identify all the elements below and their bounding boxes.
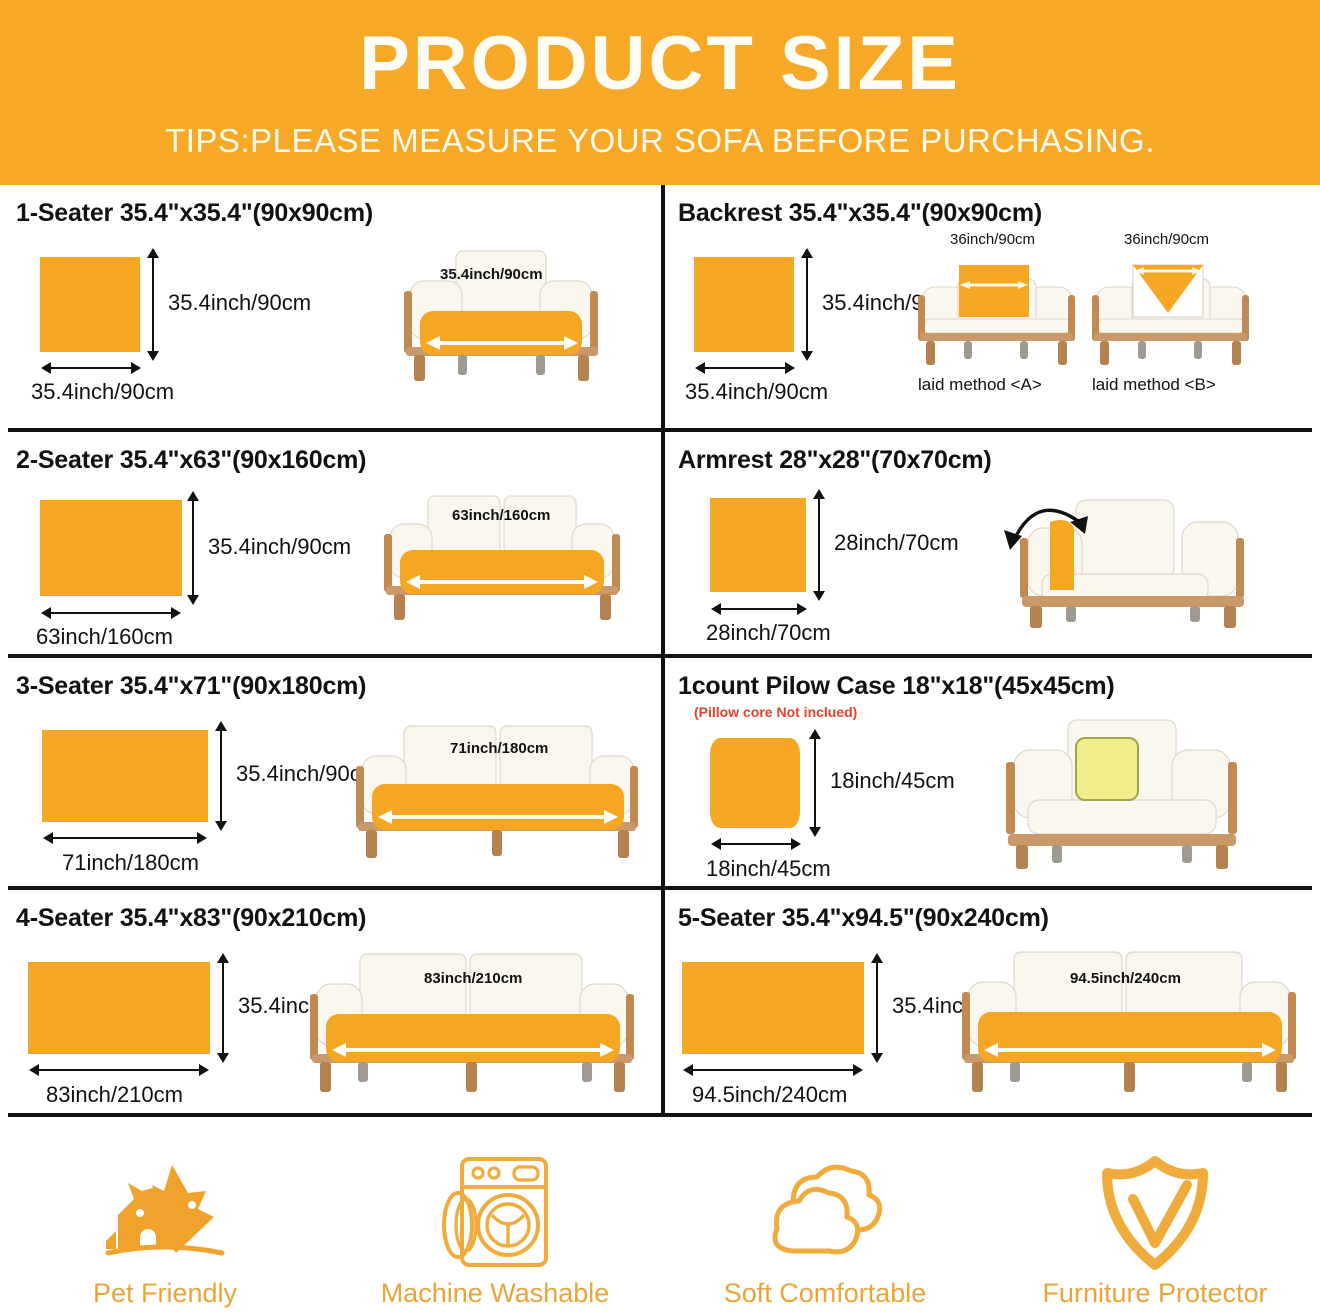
height-dimension-line — [806, 257, 808, 352]
width-label: 35.4inch/90cm — [31, 379, 174, 405]
height-label: 28inch/70cm — [834, 530, 959, 556]
sofa-measure-label: 63inch/160cm — [452, 507, 550, 524]
method-b-caption: laid method <B> — [1092, 375, 1216, 395]
size-swatch — [710, 738, 800, 828]
size-swatch — [42, 730, 208, 822]
width-dimension-line — [704, 367, 786, 369]
sofa-measure-label: 83inch/210cm — [424, 970, 522, 987]
width-label: 35.4inch/90cm — [685, 379, 828, 405]
size-swatch — [28, 962, 210, 1054]
width-dimension-line — [720, 843, 792, 845]
feature-row: Pet Friendly Machine Washable — [0, 1121, 1320, 1315]
feature-label: Machine Washable — [381, 1278, 610, 1309]
panel-5-seater: 5-Seater 35.4"x94.5"(90x240cm) 35.4inch/… — [672, 890, 1312, 1117]
row-divider — [8, 1113, 1312, 1117]
feature-machine-washable: Machine Washable — [330, 1121, 660, 1315]
sofa-3-seater-illustration: 71inch/180cm — [342, 722, 652, 862]
width-label: 28inch/70cm — [706, 620, 831, 646]
feature-furniture-protector: Furniture Protector — [990, 1121, 1320, 1315]
panel-4-seater: 4-Seater 35.4"x83"(90x210cm) 35.4inch/90… — [10, 890, 655, 1117]
pillow-chair-illustration — [972, 712, 1272, 872]
panel-title: 1count Pilow Case 18"x18"(45x45cm) — [678, 672, 1115, 701]
laid-method-b-illustration: 36inch/90cm laid method <B> — [1084, 253, 1254, 371]
panel-title: 5-Seater 35.4"x94.5"(90x240cm) — [678, 904, 1049, 933]
panel-title: Backrest 35.4"x35.4"(90x90cm) — [678, 199, 1042, 228]
panel-title: 1-Seater 35.4"x35.4"(90x90cm) — [16, 199, 373, 228]
pet-house-icon — [102, 1154, 228, 1272]
width-label: 83inch/210cm — [46, 1082, 183, 1108]
height-dimension-line — [192, 500, 194, 596]
size-grid: 1-Seater 35.4"x35.4"(90x90cm) 35.4inch/9… — [0, 185, 1320, 1117]
feature-label: Furniture Protector — [1042, 1278, 1267, 1309]
height-dimension-line — [222, 962, 224, 1054]
height-dimension-line — [876, 962, 878, 1054]
product-size-infographic: PRODUCT SIZE TIPS:PLEASE MEASURE YOUR SO… — [0, 0, 1320, 1315]
panel-3-seater: 3-Seater 35.4"x71"(90x180cm) 35.4inch/90… — [10, 658, 655, 890]
width-dimension-line — [50, 612, 172, 614]
height-label: 35.4inch/90cm — [168, 290, 311, 316]
sofa-measure-label: 71inch/180cm — [450, 740, 548, 757]
row-3: 3-Seater 35.4"x71"(90x180cm) 35.4inch/90… — [0, 658, 1320, 890]
sofa-4-seater-illustration: 83inch/210cm — [298, 950, 648, 1098]
panel-backrest: Backrest 35.4"x35.4"(90x90cm) 35.4inch/9… — [672, 185, 1312, 432]
cloud-icon — [759, 1154, 891, 1272]
size-swatch — [694, 257, 794, 352]
size-swatch — [682, 962, 864, 1054]
panel-title: 3-Seater 35.4"x71"(90x180cm) — [16, 672, 366, 701]
method-a-measure-label: 36inch/90cm — [950, 231, 1035, 248]
height-label: 35.4inch/90cm — [208, 534, 351, 560]
laid-method-a-illustration: 36inch/90cm laid method <A> — [910, 253, 1080, 371]
width-label: 63inch/160cm — [36, 624, 173, 650]
height-dimension-line — [814, 738, 816, 828]
panel-2-seater: 2-Seater 35.4"x63"(90x160cm) 35.4inch/90… — [10, 432, 655, 658]
panel-title: 2-Seater 35.4"x63"(90x160cm) — [16, 446, 366, 475]
width-dimension-line — [692, 1069, 854, 1071]
feature-pet-friendly: Pet Friendly — [0, 1121, 330, 1315]
panel-armrest: Armrest 28"x28"(70x70cm) 28inch/70cm 28i… — [672, 432, 1312, 658]
header-banner: PRODUCT SIZE TIPS:PLEASE MEASURE YOUR SO… — [0, 0, 1320, 185]
width-dimension-line — [38, 1069, 200, 1071]
width-label: 18inch/45cm — [706, 856, 831, 882]
size-swatch — [40, 500, 182, 596]
washing-machine-icon — [436, 1154, 554, 1272]
width-label: 71inch/180cm — [62, 850, 199, 876]
size-swatch — [40, 257, 140, 352]
width-dimension-line — [50, 367, 132, 369]
sofa-measure-label: 94.5inch/240cm — [1070, 970, 1181, 987]
width-label: 94.5inch/240cm — [692, 1082, 847, 1108]
armchair-illustration: 35.4inch/90cm — [380, 247, 620, 387]
sofa-5-seater-illustration: 94.5inch/240cm — [952, 948, 1308, 1098]
sofa-measure-label: 35.4inch/90cm — [440, 266, 543, 283]
height-dimension-line — [818, 498, 820, 592]
panel-title: 4-Seater 35.4"x83"(90x210cm) — [16, 904, 366, 933]
feature-label: Pet Friendly — [93, 1278, 237, 1309]
shield-check-icon — [1099, 1154, 1211, 1272]
row-2: 2-Seater 35.4"x63"(90x160cm) 35.4inch/90… — [0, 432, 1320, 658]
page-subtitle: TIPS:PLEASE MEASURE YOUR SOFA BEFORE PUR… — [165, 122, 1155, 160]
feature-soft-comfortable: Soft Comfortable — [660, 1121, 990, 1315]
pillow-core-note: (Pillow core Not inclued) — [694, 704, 857, 720]
size-swatch — [710, 498, 806, 592]
height-dimension-line — [152, 257, 154, 352]
panel-title: Armrest 28"x28"(70x70cm) — [678, 446, 992, 475]
feature-label: Soft Comfortable — [724, 1278, 927, 1309]
height-dimension-line — [220, 730, 222, 822]
width-dimension-line — [720, 608, 798, 610]
panel-1-seater: 1-Seater 35.4"x35.4"(90x90cm) 35.4inch/9… — [10, 185, 655, 432]
height-label: 18inch/45cm — [830, 768, 955, 794]
method-a-caption: laid method <A> — [918, 375, 1042, 395]
sofa-2-seater-illustration: 63inch/160cm — [368, 492, 638, 624]
width-dimension-line — [52, 837, 198, 839]
row-4: 4-Seater 35.4"x83"(90x210cm) 35.4inch/90… — [0, 890, 1320, 1117]
armrest-illustration — [990, 478, 1270, 630]
panel-pillow-case: 1count Pilow Case 18"x18"(45x45cm) (Pill… — [672, 658, 1312, 890]
method-b-measure-label: 36inch/90cm — [1124, 231, 1209, 248]
page-title: PRODUCT SIZE — [359, 26, 961, 102]
row-1: 1-Seater 35.4"x35.4"(90x90cm) 35.4inch/9… — [0, 185, 1320, 432]
